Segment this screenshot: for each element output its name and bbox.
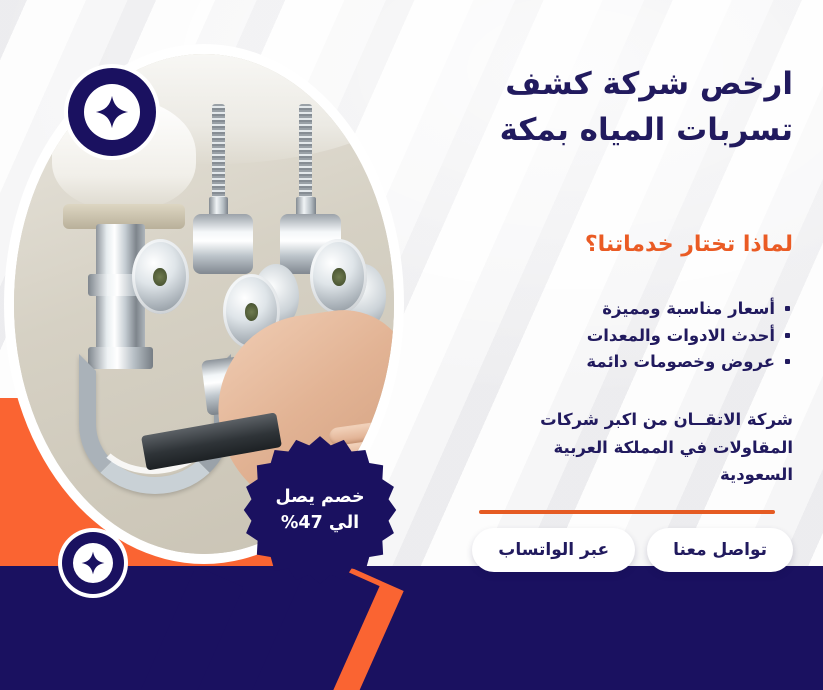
cta-row: تواصل معنا عبر الواتساب (472, 528, 793, 572)
photo-valve-handle-one (132, 239, 189, 314)
navy-bottom-band (0, 566, 823, 690)
list-item: أسعار مناسبة ومميزة (381, 296, 793, 323)
brand-logo-top[interactable] (68, 68, 156, 156)
photo-valve-handle-three (310, 239, 367, 314)
list-item: أحدث الادوات والمعدات (381, 323, 793, 350)
photo-angle-valve-left (193, 214, 254, 274)
photo-supply-braid-right (299, 104, 312, 199)
benefits-list: أسعار مناسبة ومميزة أحدث الادوات والمعدا… (381, 296, 793, 376)
headline-block: ارخص شركة كشف تسربات المياه بمكة (381, 62, 793, 154)
page-title: ارخص شركة كشف تسربات المياه بمكة (381, 62, 793, 154)
photo-supply-braid-left (212, 104, 225, 199)
brand-logo-inner-circle (84, 84, 140, 140)
brand-logo-inner-circle (73, 543, 113, 583)
company-description: شركة الاتقــان من اكبر شركات المقاولات ف… (513, 406, 793, 489)
discount-badge: خصم يصل الي 47% (243, 433, 397, 587)
poster-canvas: ارخص شركة كشف تسربات المياه بمكة لماذا ت… (0, 0, 823, 690)
contact-us-button[interactable]: تواصل معنا (647, 528, 793, 572)
discount-line-1: خصم يصل (275, 484, 364, 510)
list-item: عروض وخصومات دائمة (381, 349, 793, 376)
whatsapp-button[interactable]: عبر الواتساب (472, 528, 635, 572)
subheading: لماذا تختار خدماتنا؟ (381, 232, 793, 257)
orange-divider (479, 510, 775, 514)
four-pointed-star-sparkle-icon (81, 551, 105, 575)
brand-logo-bottom[interactable] (62, 532, 124, 594)
discount-badge-text: خصم يصل الي 47% (275, 484, 364, 537)
discount-line-2: الي 47% (275, 510, 364, 536)
four-pointed-star-sparkle-icon (95, 95, 129, 129)
